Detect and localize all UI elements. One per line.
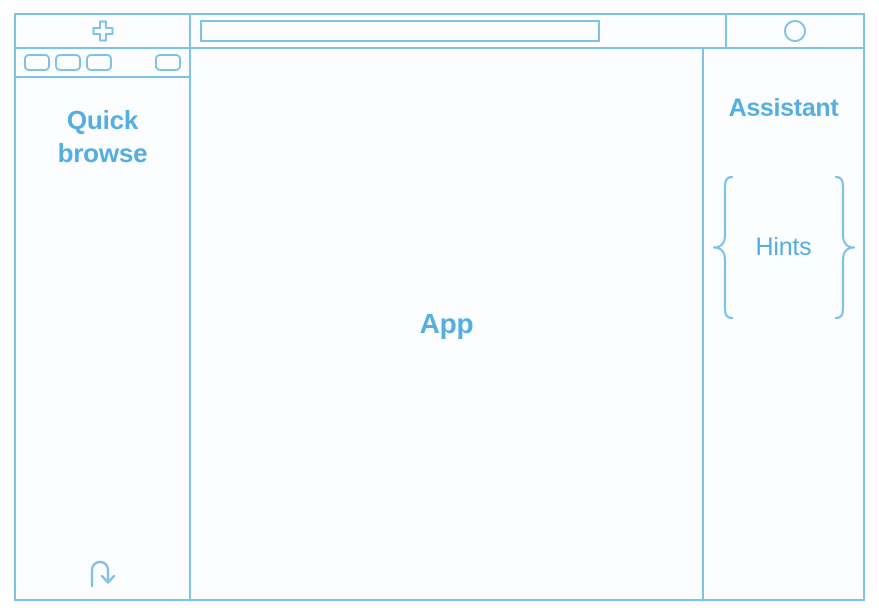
sidebar-title-line-2: browse (28, 137, 178, 170)
circle-avatar-icon[interactable] (784, 20, 806, 42)
search-input[interactable] (200, 20, 600, 42)
sidebar-tool-button-4[interactable] (155, 54, 181, 71)
titlebar-center-section (191, 15, 725, 47)
assistant-panel: Assistant Hints (704, 49, 863, 599)
hints-block[interactable]: Hints (714, 175, 854, 320)
titlebar-left-section (16, 15, 191, 47)
sidebar-tool-button-3[interactable] (86, 54, 112, 71)
sidebar-title: Quick browse (28, 104, 178, 169)
wireframe-canvas: Quick browse App Assistant (0, 0, 879, 616)
sidebar-toolbar (16, 49, 189, 78)
sidebar-content: Quick browse (16, 78, 189, 599)
sidebar-tool-button-2[interactable] (55, 54, 81, 71)
sidebar-toolbar-right-group (155, 54, 181, 71)
u-turn-arrow-icon (86, 557, 120, 589)
sidebar-toolbar-left-group (24, 54, 112, 71)
hints-label: Hints (756, 233, 812, 262)
window-body: Quick browse App Assistant (14, 49, 865, 601)
sidebar-footer (16, 557, 189, 589)
sidebar-tool-button-1[interactable] (24, 54, 50, 71)
titlebar-right-section (725, 15, 863, 47)
sidebar-panel: Quick browse (16, 49, 191, 599)
app-title: App (420, 308, 474, 340)
app-panel[interactable]: App (191, 49, 704, 599)
brace-left-icon (712, 175, 736, 320)
sidebar-title-line-1: Quick (28, 104, 178, 137)
brace-right-icon (832, 175, 856, 320)
u-turn-arrow-button[interactable] (86, 557, 120, 589)
plus-icon (92, 20, 114, 42)
titlebar (14, 13, 865, 49)
assistant-title: Assistant (729, 94, 839, 123)
add-tab-button[interactable] (92, 20, 114, 42)
